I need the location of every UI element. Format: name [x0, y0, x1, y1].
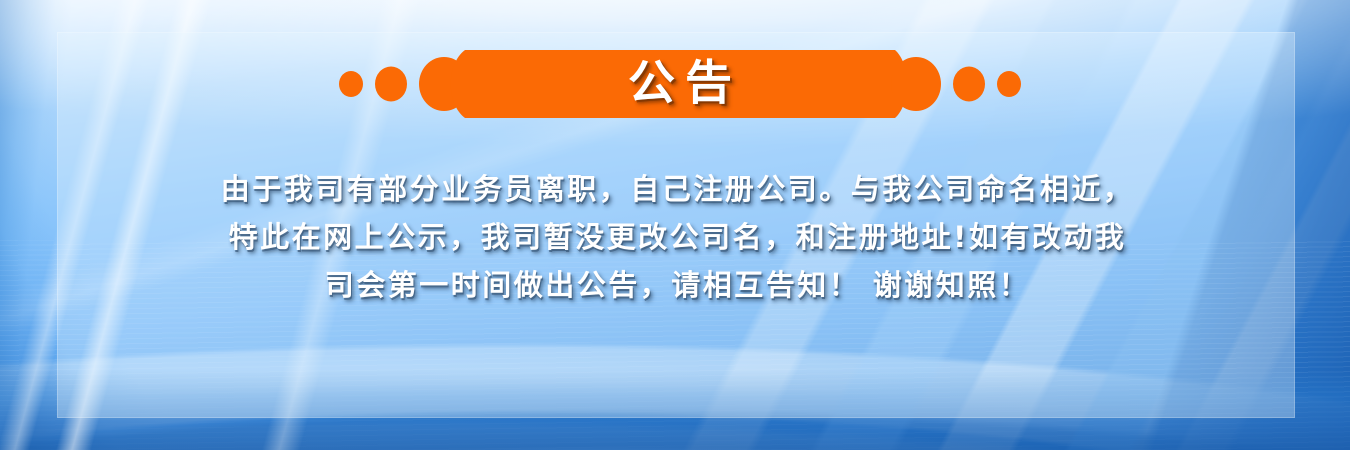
announcement-line: 特此在网上公示，我司暂没更改公司名，和注册地址!如有改动我 — [70, 213, 1285, 261]
announcement-banner: 公告 由于我司有部分业务员离职，自己注册公司。与我公司命名相近， 特此在网上公示… — [0, 0, 1350, 450]
announcement-line: 司会第一时间做出公告，请相互告知！ 谢谢知照！ — [70, 261, 1285, 309]
announcement-line: 由于我司有部分业务员离职，自己注册公司。与我公司命名相近， — [70, 165, 1285, 213]
page-title: 公告 — [335, 50, 1025, 118]
title-plaque: 公告 — [335, 50, 1025, 118]
announcement-body: 由于我司有部分业务员离职，自己注册公司。与我公司命名相近， 特此在网上公示，我司… — [70, 165, 1285, 309]
